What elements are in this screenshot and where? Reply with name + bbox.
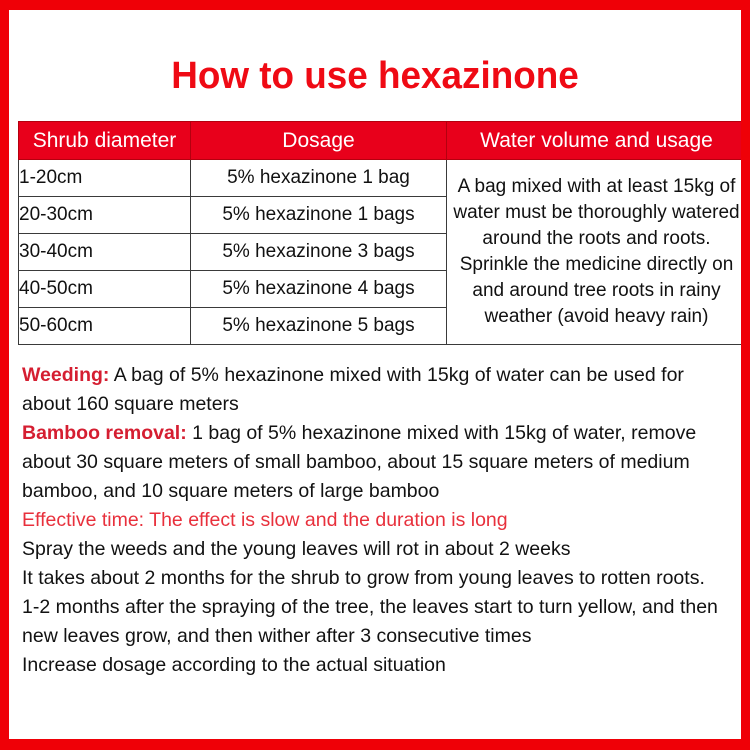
dosage-table: Shrub diameter Dosage Water volume and u… xyxy=(18,121,747,345)
cell-shrub-diameter: 30-40cm xyxy=(19,234,191,271)
instructions-block: Weeding: A bag of 5% hexazinone mixed wi… xyxy=(14,345,736,680)
cell-shrub-diameter: 20-30cm xyxy=(19,197,191,234)
note-leaves-yellow: 1-2 months after the spraying of the tre… xyxy=(22,593,730,651)
note-weeding-label: Weeding: xyxy=(22,364,109,386)
column-header-dosage: Dosage xyxy=(191,122,447,160)
table-body: 1-20cm 5% hexazinone 1 bag A bag mixed w… xyxy=(19,160,747,345)
note-spray-weeds: Spray the weeds and the young leaves wil… xyxy=(22,535,730,564)
dosage-table-wrapper: Shrub diameter Dosage Water volume and u… xyxy=(14,121,736,345)
cell-shrub-diameter: 40-50cm xyxy=(19,271,191,308)
column-header-water-volume: Water volume and usage xyxy=(447,122,747,160)
note-bamboo-label: Bamboo removal: xyxy=(22,422,187,444)
table-row: 1-20cm 5% hexazinone 1 bag A bag mixed w… xyxy=(19,160,747,197)
cell-shrub-diameter: 50-60cm xyxy=(19,308,191,345)
note-weeding-text: A bag of 5% hexazinone mixed with 15kg o… xyxy=(22,364,684,415)
table-head: Shrub diameter Dosage Water volume and u… xyxy=(19,122,747,160)
note-increase-dosage: Increase dosage according to the actual … xyxy=(22,651,730,680)
page-title: How to use hexazinone xyxy=(25,10,725,95)
cell-dosage: 5% hexazinone 1 bag xyxy=(191,160,447,197)
column-header-shrub-diameter: Shrub diameter xyxy=(19,122,191,160)
cell-dosage: 5% hexazinone 1 bags xyxy=(191,197,447,234)
cell-dosage: 5% hexazinone 5 bags xyxy=(191,308,447,345)
note-bamboo-removal: Bamboo removal: 1 bag of 5% hexazinone m… xyxy=(22,419,730,506)
note-weeding: Weeding: A bag of 5% hexazinone mixed wi… xyxy=(22,361,730,419)
cell-dosage: 5% hexazinone 3 bags xyxy=(191,234,447,271)
poster-root: How to use hexazinone Shrub diameter Dos… xyxy=(0,0,750,750)
note-effective-time: Effective time: The effect is slow and t… xyxy=(22,506,730,535)
cell-dosage: 5% hexazinone 4 bags xyxy=(191,271,447,308)
poster-inner: How to use hexazinone Shrub diameter Dos… xyxy=(9,10,741,739)
table-header-row: Shrub diameter Dosage Water volume and u… xyxy=(19,122,747,160)
cell-shrub-diameter: 1-20cm xyxy=(19,160,191,197)
note-shrub-growth: It takes about 2 months for the shrub to… xyxy=(22,564,730,593)
cell-water-usage: A bag mixed with at least 15kg of water … xyxy=(447,160,747,345)
